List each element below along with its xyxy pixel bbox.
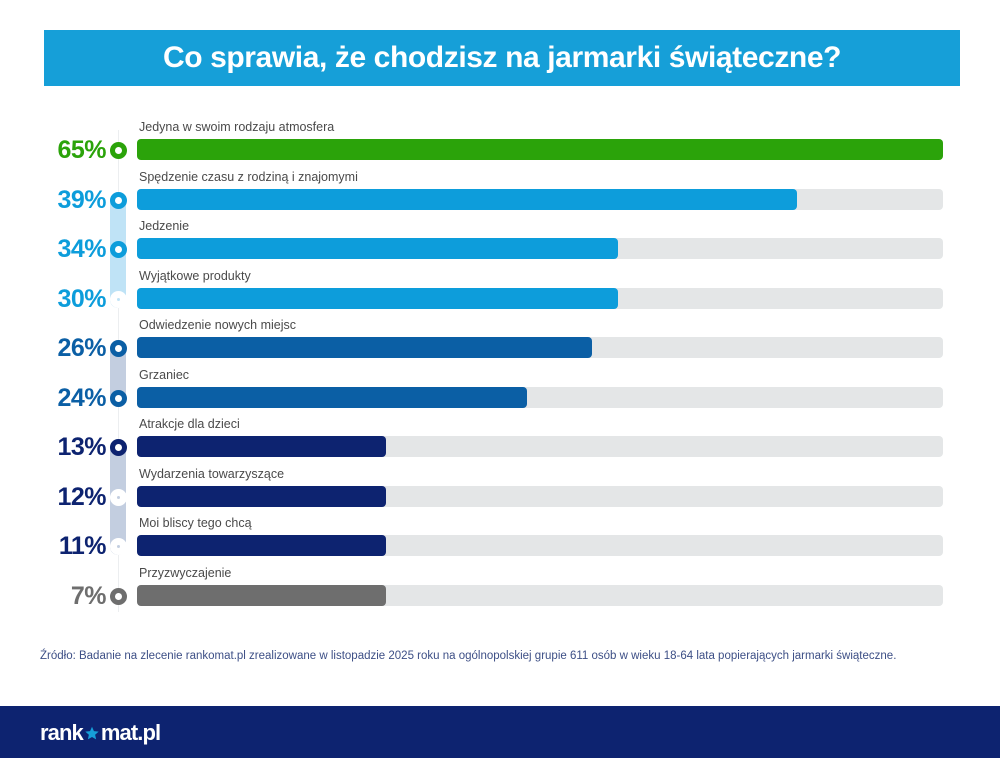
value-label-wrap: 12%: [18, 485, 106, 515]
footer-bar: rank mat.pl: [0, 706, 1000, 758]
star-icon: [84, 721, 100, 747]
row-marker-icon: [110, 192, 127, 209]
value-label-wrap: 13%: [18, 435, 106, 465]
chart-row: 12%Wydarzenia towarzyszące: [0, 467, 1000, 516]
row-marker-icon: [110, 291, 127, 308]
bar-track: [137, 486, 943, 507]
chart-row: 30%Wyjątkowe produkty: [0, 269, 1000, 318]
category-label: Atrakcje dla dzieci: [139, 417, 240, 431]
value-label-wrap: 11%: [18, 534, 106, 564]
page-title: Co sprawia, że chodzisz na jarmarki świą…: [163, 41, 841, 75]
category-label: Wyjątkowe produkty: [139, 269, 251, 283]
rankomat-logo[interactable]: rank mat.pl: [40, 720, 160, 746]
chart-row: 65%Jedyna w swoim rodzaju atmosfera: [0, 120, 1000, 169]
category-label: Spędzenie czasu z rodziną i znajomymi: [139, 170, 358, 184]
value-label: 11%: [18, 534, 106, 559]
category-label: Grzaniec: [139, 368, 189, 382]
category-label: Przyzwyczajenie: [139, 566, 231, 580]
bar-fill: [137, 189, 797, 210]
bar-track: [137, 436, 943, 457]
row-marker-icon: [110, 340, 127, 357]
row-marker-icon: [110, 439, 127, 456]
value-label-wrap: 24%: [18, 386, 106, 416]
value-label: 7%: [18, 584, 106, 609]
value-label: 24%: [18, 386, 106, 411]
row-marker-icon: [110, 142, 127, 159]
value-label: 26%: [18, 336, 106, 361]
chart-row: 13%Atrakcje dla dzieci: [0, 417, 1000, 466]
chart-row: 26%Odwiedzenie nowych miejsc: [0, 318, 1000, 367]
value-label: 13%: [18, 435, 106, 460]
bar-track: [137, 387, 943, 408]
bar-track: [137, 189, 943, 210]
bar-fill: [137, 585, 386, 606]
bar-fill: [137, 387, 527, 408]
row-marker-icon: [110, 241, 127, 258]
bar-track: [137, 337, 943, 358]
category-label: Jedzenie: [139, 219, 189, 233]
row-marker-icon: [110, 588, 127, 605]
chart-row: 34%Jedzenie: [0, 219, 1000, 268]
bar-track: [137, 238, 943, 259]
value-label: 12%: [18, 485, 106, 510]
chart-row: 39%Spędzenie czasu z rodziną i znajomymi: [0, 170, 1000, 219]
value-label-wrap: 65%: [18, 138, 106, 168]
chart-row: 24%Grzaniec: [0, 368, 1000, 417]
value-label-wrap: 26%: [18, 336, 106, 366]
bar-fill: [137, 486, 386, 507]
category-label: Wydarzenia towarzyszące: [139, 467, 284, 481]
value-label: 34%: [18, 237, 106, 262]
bar-fill: [137, 337, 592, 358]
value-label-wrap: 39%: [18, 188, 106, 218]
bar-fill: [137, 535, 386, 556]
value-label: 65%: [18, 138, 106, 163]
bar-fill: [137, 436, 386, 457]
row-marker-icon: [110, 489, 127, 506]
bar-chart: 65%Jedyna w swoim rodzaju atmosfera39%Sp…: [0, 120, 1000, 630]
bar-track: [137, 288, 943, 309]
value-label: 30%: [18, 287, 106, 312]
value-label-wrap: 30%: [18, 287, 106, 317]
row-marker-icon: [110, 538, 127, 555]
bar-fill: [137, 139, 943, 160]
value-label: 39%: [18, 188, 106, 213]
row-marker-icon: [110, 390, 127, 407]
bar-track: [137, 535, 943, 556]
chart-row: 7%Przyzwyczajenie: [0, 566, 1000, 615]
category-label: Moi bliscy tego chcą: [139, 516, 252, 530]
bar-track: [137, 139, 943, 160]
logo-text-first: rank: [40, 720, 83, 746]
chart-row: 11%Moi bliscy tego chcą: [0, 516, 1000, 565]
value-label-wrap: 7%: [18, 584, 106, 614]
bar-fill: [137, 238, 618, 259]
value-label-wrap: 34%: [18, 237, 106, 267]
chart-title-banner: Co sprawia, że chodzisz na jarmarki świą…: [44, 30, 960, 86]
logo-text-second: mat.pl: [101, 720, 160, 746]
bar-track: [137, 585, 943, 606]
category-label: Odwiedzenie nowych miejsc: [139, 318, 296, 332]
category-label: Jedyna w swoim rodzaju atmosfera: [139, 120, 334, 134]
source-note: Źródło: Badanie na zlecenie rankomat.pl …: [40, 648, 940, 666]
bar-fill: [137, 288, 618, 309]
